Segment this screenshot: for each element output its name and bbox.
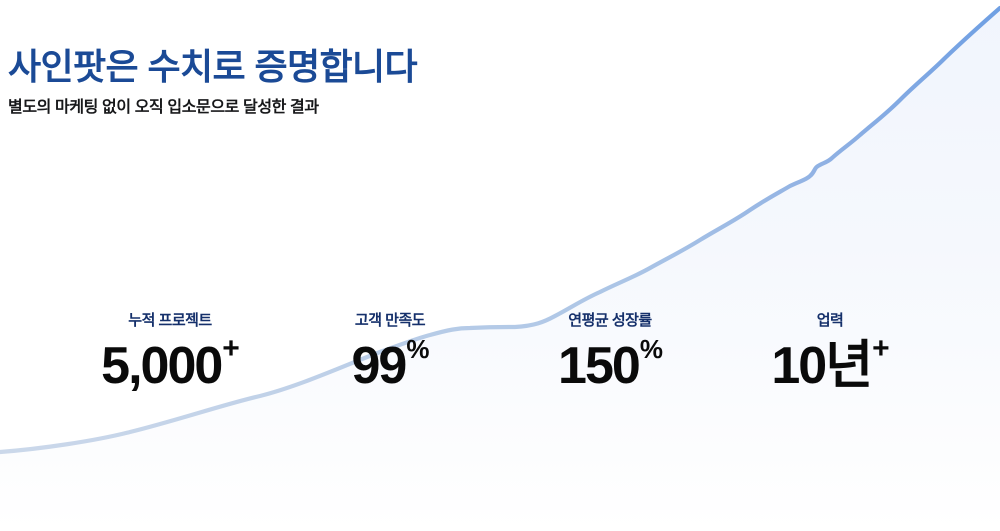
stat-item-growth-rate: 연평균 성장률 150%: [500, 312, 720, 392]
stat-suffix: %: [406, 336, 429, 362]
stat-value: 99%: [280, 340, 500, 392]
stat-number: 99: [352, 340, 406, 392]
stat-suffix: +: [222, 334, 240, 364]
stat-label: 업력: [720, 312, 940, 330]
stat-value: 150%: [500, 340, 720, 392]
stats-section: 사인팟은 수치로 증명합니다 별도의 마케팅 없이 오직 입소문으로 달성한 결…: [0, 0, 1000, 531]
stat-label: 고객 만족도: [280, 312, 500, 330]
stat-suffix: +: [872, 334, 890, 364]
stat-number: 10년: [771, 340, 871, 392]
stat-item-projects: 누적 프로젝트 5,000+: [60, 312, 280, 392]
stat-item-experience: 업력 10년+: [720, 312, 940, 392]
stat-label: 연평균 성장률: [500, 312, 720, 330]
stat-label: 누적 프로젝트: [60, 312, 280, 330]
stat-value: 10년+: [720, 340, 940, 392]
heading-block: 사인팟은 수치로 증명합니다 별도의 마케팅 없이 오직 입소문으로 달성한 결…: [8, 46, 628, 119]
stat-number: 150: [558, 340, 639, 392]
stats-row: 누적 프로젝트 5,000+ 고객 만족도 99% 연평균 성장률 150% 업…: [60, 312, 940, 392]
page-title: 사인팟은 수치로 증명합니다: [8, 46, 628, 88]
stat-number: 5,000: [101, 340, 221, 392]
page-subtitle: 별도의 마케팅 없이 오직 입소문으로 달성한 결과: [8, 98, 628, 119]
stat-item-satisfaction: 고객 만족도 99%: [280, 312, 500, 392]
stat-suffix: %: [640, 336, 663, 362]
stat-value: 5,000+: [60, 340, 280, 392]
